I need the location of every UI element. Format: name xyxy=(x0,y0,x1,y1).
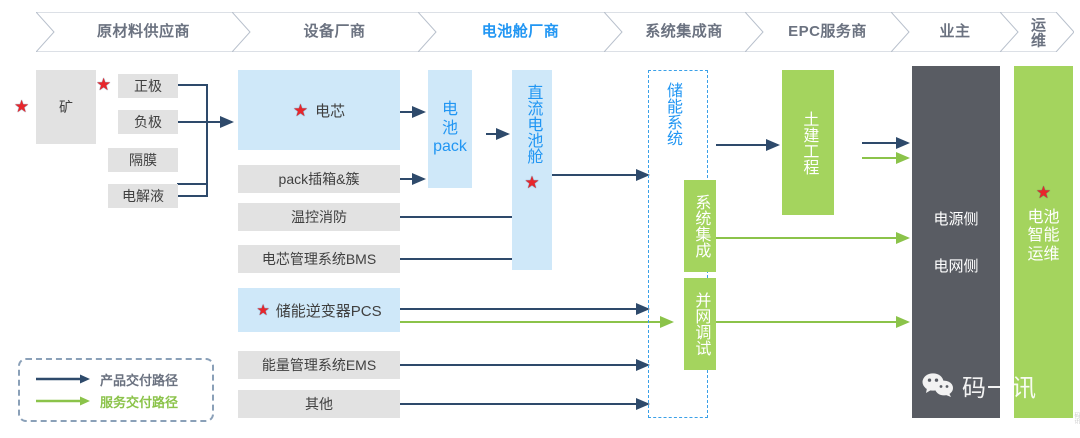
legend-item-service: 服务交付路径 xyxy=(34,390,198,412)
node-pack-rack[interactable]: pack插箱&簇 xyxy=(238,165,400,193)
node-system-integration[interactable]: 系统集成 xyxy=(684,180,716,272)
node-bms[interactable]: 电芯管理系统BMS xyxy=(238,245,400,273)
node-battery-pack-line1: 电 xyxy=(442,101,458,119)
watermark-text: 码一讯 xyxy=(962,368,1037,403)
node-owner-line2: 电网侧 xyxy=(933,255,978,276)
node-ems[interactable]: 能量管理系统EMS xyxy=(238,351,400,379)
node-pcs-label: 储能逆变器PCS xyxy=(276,300,382,321)
star-icon-mine: ★ xyxy=(14,98,29,115)
node-owner-line1: 电源侧 xyxy=(933,208,978,229)
node-pack-rack-label: pack插箱&簇 xyxy=(279,169,360,189)
node-thermal-fire[interactable]: 温控消防 xyxy=(238,203,400,231)
stage-chevron-4[interactable]: EPC服务商 xyxy=(745,12,910,52)
wechat-icon xyxy=(922,372,956,400)
node-smart-om[interactable]: ★ 电池智能运维 xyxy=(1014,66,1073,418)
node-cathode[interactable]: 正极 xyxy=(118,74,178,98)
stage-chevron-label-2: 电池舱厂商 xyxy=(482,24,560,40)
legend-item-product-label: 产品交付路径 xyxy=(100,370,178,389)
node-other-label: 其他 xyxy=(305,394,333,414)
node-mine-label: 矿 xyxy=(59,97,73,117)
star-icon-om: ★ xyxy=(1036,184,1051,201)
stage-chevron-label-1: 设备厂商 xyxy=(303,24,365,40)
node-separator[interactable]: 隔膜 xyxy=(108,148,178,172)
node-cell-label: 电芯 xyxy=(315,100,345,121)
stage-chevron-1[interactable]: 设备厂商 xyxy=(232,12,437,52)
star-icon-cell: ★ xyxy=(293,102,308,119)
stage-chevron-6[interactable]: 运维 xyxy=(1000,12,1074,52)
green-arrow-icon xyxy=(34,395,92,407)
stage-chevron-0[interactable]: 原材料供应商 xyxy=(36,12,251,52)
watermark: 码一讯 xyxy=(922,368,1037,403)
node-smart-om-label: 电池智能运维 xyxy=(1027,209,1059,264)
node-civil-engineering-label: 土建工程 xyxy=(800,111,817,175)
node-mine[interactable]: 矿 xyxy=(36,70,96,144)
node-grid-commissioning-label: 并网调试 xyxy=(692,292,709,356)
node-other[interactable]: 其他 xyxy=(238,390,400,418)
node-dc-battery-cabin[interactable]: 直流电池舱 ★ xyxy=(512,70,552,270)
node-ess-system-label: 储能系统 xyxy=(652,82,680,146)
node-civil-engineering[interactable]: 土建工程 xyxy=(782,70,834,215)
legend-item-service-label: 服务交付路径 xyxy=(100,392,178,411)
node-separator-label: 隔膜 xyxy=(129,150,157,170)
node-thermal-fire-label: 温控消防 xyxy=(291,207,347,227)
node-bms-label: 电芯管理系统BMS xyxy=(262,249,376,269)
stage-chevron-label-6: 运维 xyxy=(1029,17,1045,48)
node-anode-label: 负极 xyxy=(134,112,162,132)
star-icon-dc-cabin: ★ xyxy=(524,174,539,191)
stage-chevron-label-3: 系统集成商 xyxy=(645,24,723,40)
stage-chevron-2[interactable]: 电池舱厂商 xyxy=(418,12,623,52)
node-cathode-label: 正极 xyxy=(134,76,162,96)
node-battery-pack-line3: pack xyxy=(433,138,467,156)
node-system-integration-label: 系统集成 xyxy=(692,194,709,258)
node-battery-pack-line2: 池 xyxy=(442,120,458,138)
stage-chevron-label-0: 原材料供应商 xyxy=(97,24,190,40)
node-grid-commissioning[interactable]: 并网调试 xyxy=(684,278,716,370)
stage-chevron-3[interactable]: 系统集成商 xyxy=(604,12,764,52)
node-electrolyte-label: 电解液 xyxy=(122,186,164,206)
legend-item-product: 产品交付路径 xyxy=(34,368,198,390)
star-icon-pcs: ★ xyxy=(256,303,269,318)
legend: 产品交付路径 服务交付路径 xyxy=(18,358,214,422)
stage-chevron-label-4: EPC服务商 xyxy=(788,24,867,40)
star-icon-cathode: ★ xyxy=(96,76,111,93)
stage-chevron-label-5: 业主 xyxy=(939,24,970,40)
node-battery-pack[interactable]: 电 池 pack xyxy=(428,70,472,188)
node-anode[interactable]: 负极 xyxy=(118,110,178,134)
node-owner[interactable]: 电源侧 电网侧 xyxy=(912,66,1000,418)
supply-chain-diagram: 原材料供应商设备厂商电池舱厂商系统集成商EPC服务商业主运维 xyxy=(0,0,1080,438)
node-dc-battery-cabin-label: 直流电池舱 xyxy=(524,84,541,164)
node-ems-label: 能量管理系统EMS xyxy=(262,355,376,375)
node-pcs[interactable]: ★ 储能逆变器PCS xyxy=(238,288,400,332)
node-electrolyte[interactable]: 电解液 xyxy=(108,184,178,208)
node-cell[interactable]: ★ 电芯 xyxy=(238,70,400,150)
navy-arrow-icon xyxy=(34,373,92,385)
corner-tiny-mark: 码讯 xyxy=(1072,412,1080,424)
